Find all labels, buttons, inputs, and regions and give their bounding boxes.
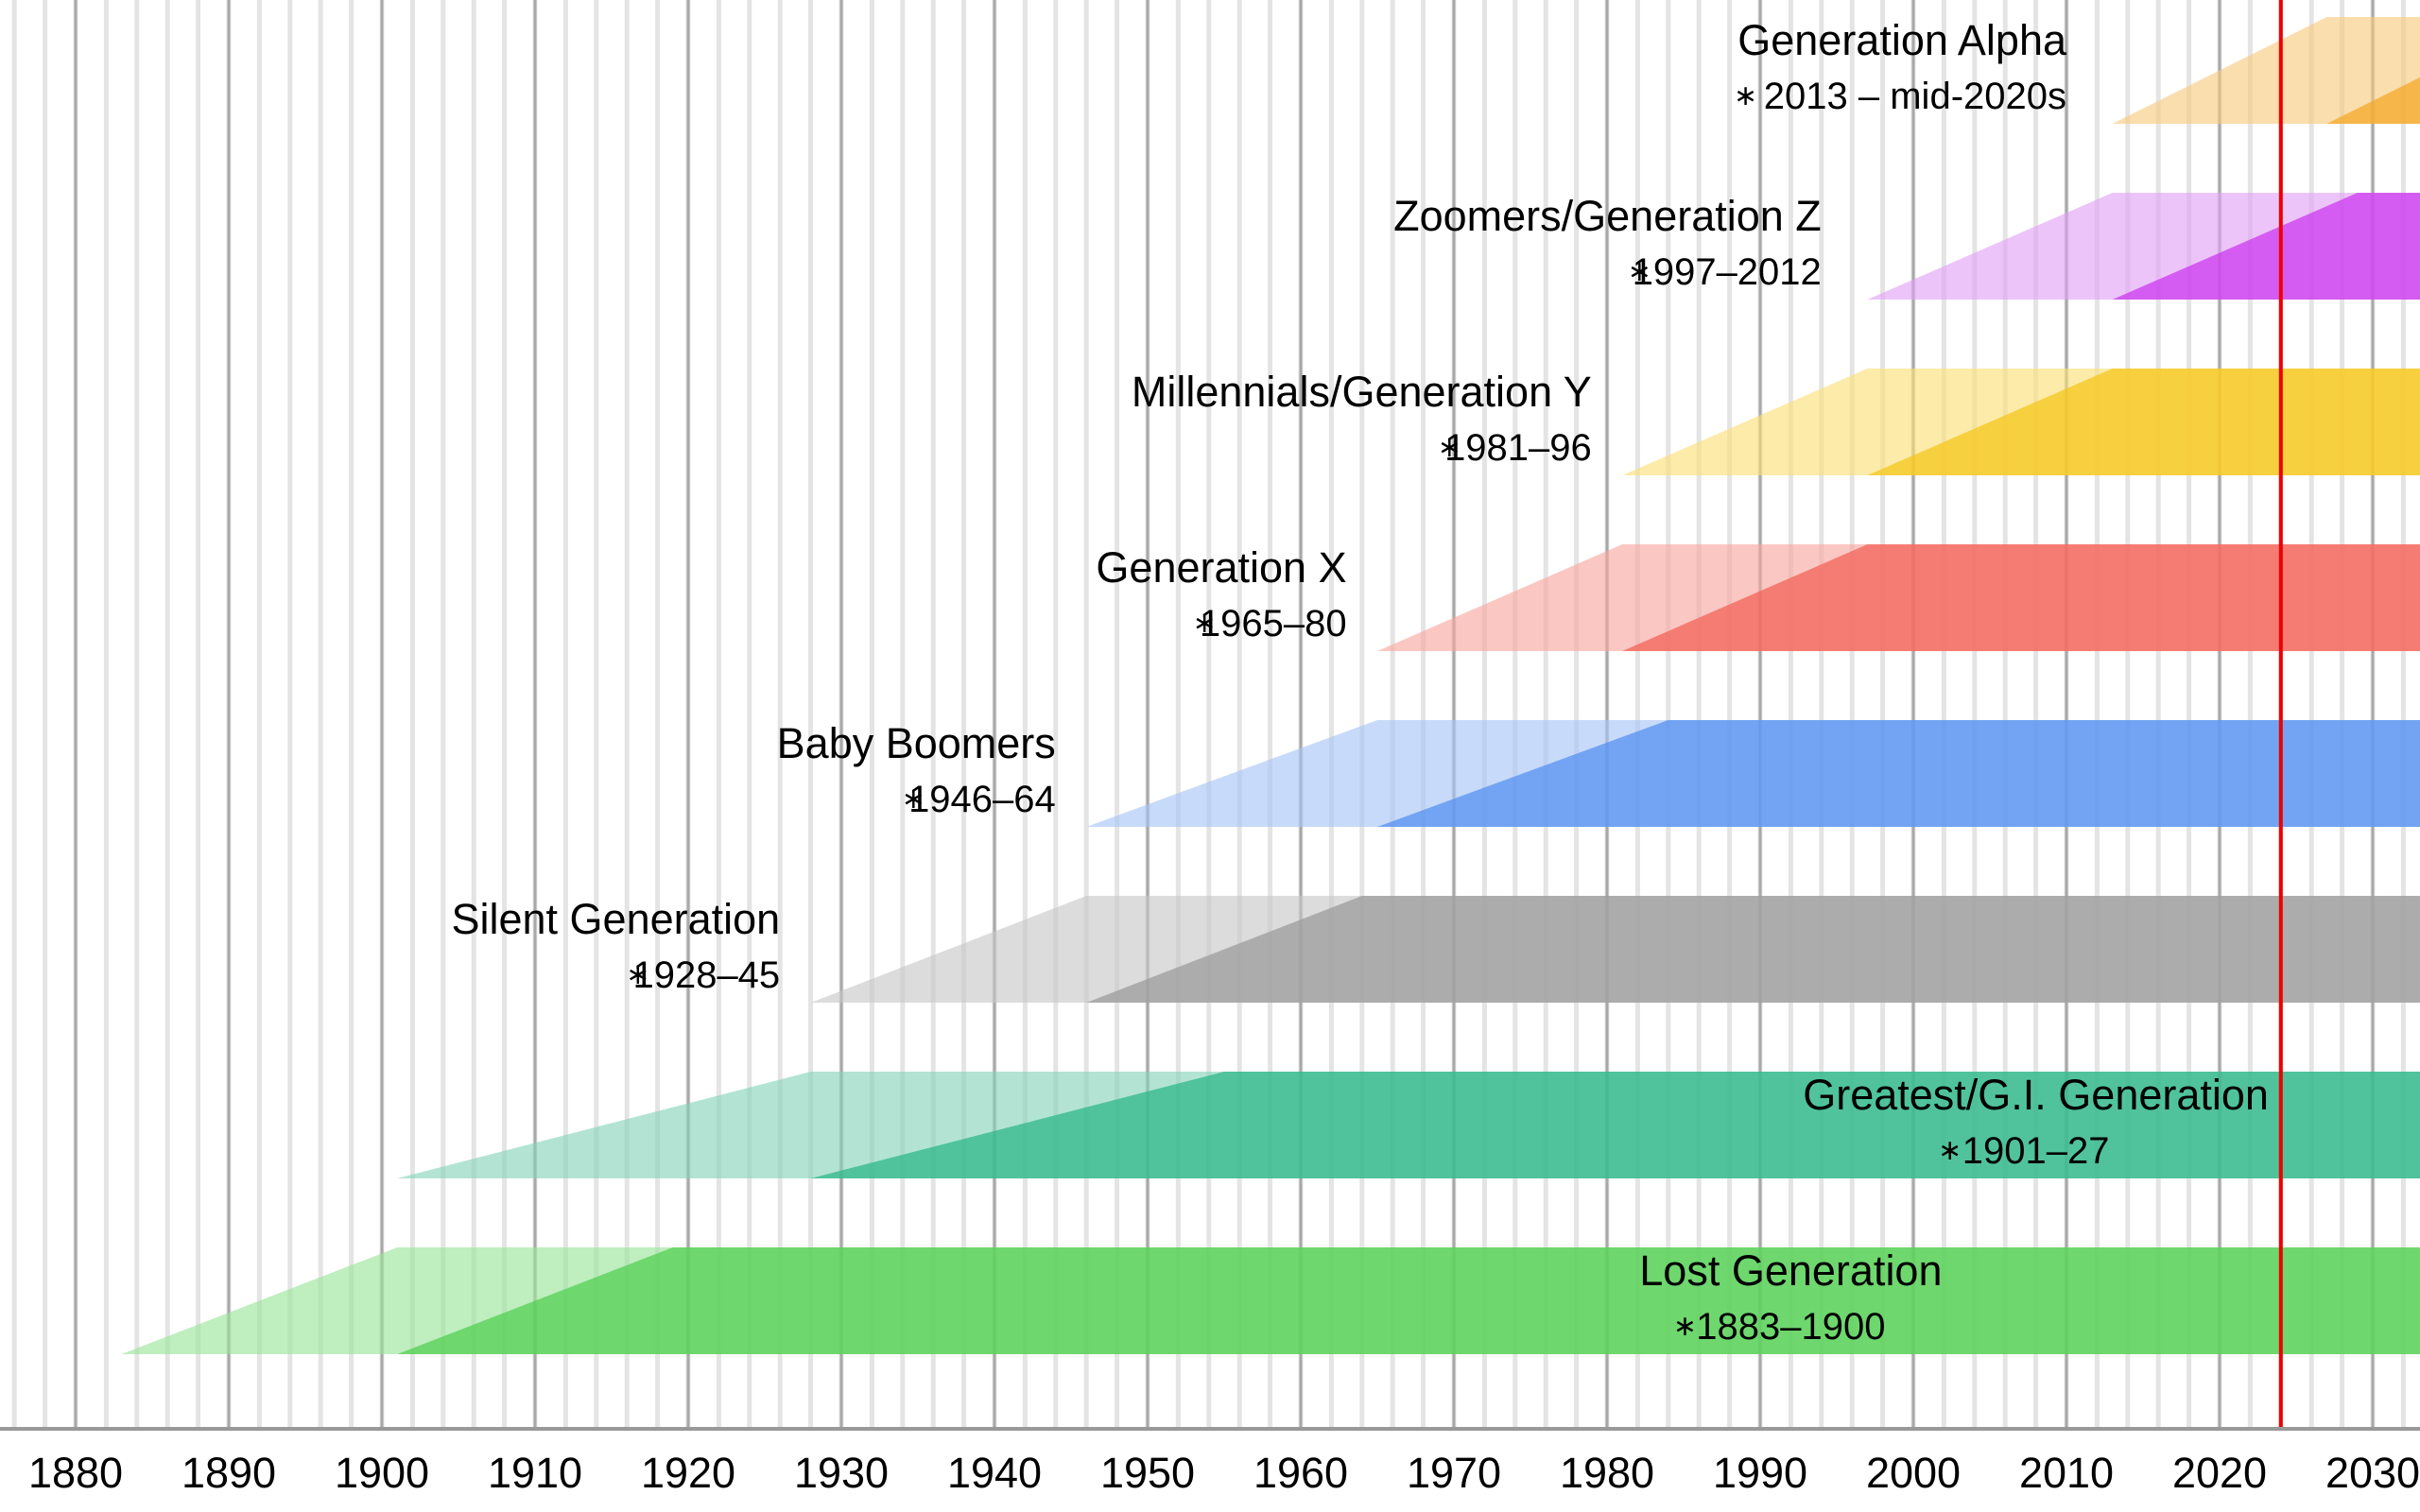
x-tick-label: 1990: [1713, 1449, 1807, 1497]
generation-name: Generation X: [1096, 543, 1346, 592]
grid-major-lines: [76, 0, 2373, 1429]
generation-years-text: 1946–64: [908, 779, 1056, 820]
generation-years-text: 1997–2012: [1633, 251, 1822, 293]
generation-years-text: 1965–80: [1200, 603, 1347, 644]
x-tick-label: 1890: [181, 1449, 276, 1497]
generation-label-group: Generation X1965–80∗: [1096, 543, 1346, 644]
generation-years-text: 2013 – mid-2020s: [1764, 76, 2066, 117]
x-tick-label: 1980: [1560, 1449, 1654, 1497]
birth-star-icon: ∗: [1438, 432, 1461, 463]
generation-years-text: 1928–45: [632, 954, 780, 996]
x-tick-label: 2010: [2019, 1449, 2114, 1497]
birth-star-icon: ∗: [1938, 1135, 1962, 1166]
x-tick-label: 1880: [28, 1449, 123, 1497]
generation-years: 1883–1900∗: [1673, 1306, 1886, 1348]
generation-years: 1965–80∗: [1193, 603, 1347, 644]
generation-years: 1901–27∗: [1938, 1130, 2109, 1172]
generation-years: 1997–2012∗: [1628, 251, 1822, 293]
generation-years: 1946–64∗: [902, 779, 1056, 820]
x-tick-label: 1900: [335, 1449, 429, 1497]
generation-years-text: 1883–1900: [1696, 1306, 1885, 1348]
generation-years-text: 1981–96: [1444, 427, 1592, 469]
generation-name: Baby Boomers: [777, 719, 1056, 767]
generation-name: Zoomers/Generation Z: [1393, 192, 1822, 240]
birth-star-icon: ∗: [902, 783, 925, 815]
grid-minor-lines: [14, 0, 2403, 1429]
x-tick-label: 2020: [2172, 1449, 2267, 1497]
generation-name: Millennials/Generation Y: [1132, 368, 1592, 416]
x-tick-label: 1920: [641, 1449, 735, 1497]
birth-star-icon: ∗: [1193, 608, 1217, 639]
birth-star-icon: ∗: [1673, 1311, 1697, 1342]
band-core: [397, 1247, 2420, 1354]
generation-label-group: Baby Boomers1946–64∗: [777, 719, 1056, 820]
generation-name: Silent Generation: [451, 895, 780, 943]
x-tick-label: 1940: [947, 1449, 1042, 1497]
timeline-svg: 1880189019001910192019301940195019601970…: [0, 0, 2420, 1512]
generation-label-group: Silent Generation1928–45∗: [451, 895, 780, 996]
x-tick-label: 1930: [794, 1449, 889, 1497]
x-tick-label: 1950: [1100, 1449, 1195, 1497]
generation-years: 1928–45∗: [626, 954, 780, 996]
generation-name: Greatest/G.I. Generation: [1803, 1071, 2269, 1119]
x-tick-label: 1960: [1253, 1449, 1348, 1497]
x-axis-tick-labels: 1880189019001910192019301940195019601970…: [28, 1449, 2420, 1497]
birth-star-icon: ∗: [626, 959, 649, 990]
x-tick-label: 1910: [488, 1449, 582, 1497]
generation-years-text: 1901–27: [1962, 1130, 2110, 1172]
x-tick-label: 1970: [1407, 1449, 1501, 1497]
generation-name: Generation Alpha: [1737, 16, 2067, 64]
generations-timeline-chart: 1880189019001910192019301940195019601970…: [0, 0, 2420, 1512]
generation-name: Lost Generation: [1639, 1246, 1942, 1295]
x-tick-label: 2000: [1866, 1449, 1961, 1497]
x-tick-label: 2030: [2325, 1449, 2420, 1497]
birth-star-icon: ∗: [1734, 80, 1757, 112]
generation-years: 1981–96∗: [1438, 427, 1592, 469]
generation-years: 2013 – mid-2020s∗: [1734, 76, 2066, 117]
birth-star-icon: ∗: [1628, 256, 1651, 287]
generation-label-group: Generation Alpha2013 – mid-2020s∗: [1734, 16, 2067, 117]
